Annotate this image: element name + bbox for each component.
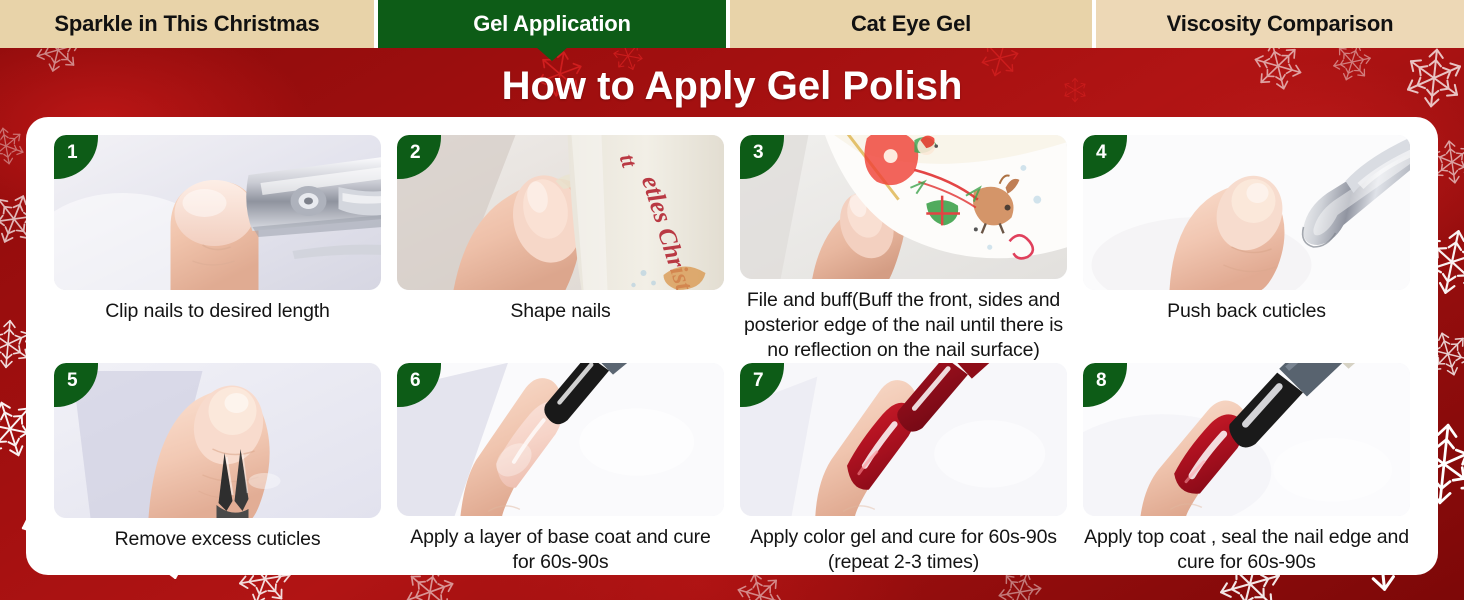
step-7-image: 7 bbox=[740, 363, 1067, 516]
step-number: 3 bbox=[753, 143, 764, 162]
step-caption: Apply a layer of base coat and cure for … bbox=[397, 525, 724, 575]
step-item: 5 Remove excess cuticles bbox=[46, 363, 389, 575]
step-5-image: 5 bbox=[54, 363, 381, 518]
step-caption: Remove excess cuticles bbox=[115, 527, 321, 552]
tab-viscosity-comparison[interactable]: Viscosity Comparison bbox=[1096, 0, 1464, 48]
cuticle-pusher-photo bbox=[1083, 135, 1410, 290]
step-1-image: 1 bbox=[54, 135, 381, 290]
steps-row-bottom: 5 Remove excess cuticles bbox=[46, 363, 1418, 575]
steps-card: 1 Clip nails to desired length bbox=[26, 117, 1438, 575]
step-caption: Clip nails to desired length bbox=[105, 299, 330, 324]
red-color-gel-brush-photo bbox=[740, 363, 1067, 516]
step-item: 3 File and buff(Buff the front, sides an… bbox=[732, 135, 1075, 363]
gel-application-infographic: Sparkle in This Christmas Gel Applicatio… bbox=[0, 0, 1464, 600]
step-number: 5 bbox=[67, 371, 78, 390]
tab-sparkle-in-this-christmas[interactable]: Sparkle in This Christmas bbox=[0, 0, 378, 48]
step-item: 7 Apply color gel and cure for 60s-90s (… bbox=[732, 363, 1075, 575]
tab-label: Viscosity Comparison bbox=[1167, 11, 1394, 37]
cuticle-nipper-photo bbox=[54, 363, 381, 518]
step-4-image: 4 bbox=[1083, 135, 1410, 290]
step-3-image: 3 bbox=[740, 135, 1067, 279]
tab-label: Cat Eye Gel bbox=[851, 11, 971, 37]
step-number: 1 bbox=[67, 143, 78, 162]
base-coat-brush-photo bbox=[397, 363, 724, 516]
tab-gel-application[interactable]: Gel Application bbox=[378, 0, 730, 48]
step-caption: Push back cuticles bbox=[1167, 299, 1326, 324]
step-caption: Shape nails bbox=[510, 299, 610, 324]
tab-label: Gel Application bbox=[473, 11, 631, 37]
page-title: How to Apply Gel Polish bbox=[0, 56, 1464, 116]
step-number: 4 bbox=[1096, 143, 1107, 162]
step-item: 8 Apply top coat , seal the nail edge an… bbox=[1075, 363, 1418, 575]
page-title-text: How to Apply Gel Polish bbox=[502, 64, 963, 109]
step-2-image: etles Christ tt 2 bbox=[397, 135, 724, 290]
step-item: 4 Push back cuticles bbox=[1075, 135, 1418, 363]
christmas-nail-file-buffing-photo bbox=[740, 135, 1067, 279]
step-caption: Apply color gel and cure for 60s-90s (re… bbox=[740, 525, 1067, 575]
nail-file-shaping-photo: etles Christ tt bbox=[397, 135, 724, 290]
step-number: 2 bbox=[410, 143, 421, 162]
steps-row-top: 1 Clip nails to desired length bbox=[46, 135, 1418, 363]
step-item: 1 Clip nails to desired length bbox=[46, 135, 389, 363]
tab-bar: Sparkle in This Christmas Gel Applicatio… bbox=[0, 0, 1464, 48]
step-item: etles Christ tt 2 Shape nails bbox=[389, 135, 732, 363]
tab-label: Sparkle in This Christmas bbox=[54, 11, 319, 37]
step-8-image: 8 bbox=[1083, 363, 1410, 516]
step-caption: Apply top coat , seal the nail edge and … bbox=[1083, 525, 1410, 575]
step-number: 7 bbox=[753, 371, 764, 390]
top-coat-brush-photo bbox=[1083, 363, 1410, 516]
step-number: 8 bbox=[1096, 371, 1107, 390]
step-number: 6 bbox=[410, 371, 421, 390]
step-6-image: 6 bbox=[397, 363, 724, 516]
step-caption: File and buff(Buff the front, sides and … bbox=[740, 288, 1067, 363]
step-item: 6 Apply a layer of base coat and cure fo… bbox=[389, 363, 732, 575]
nail-clipper-photo bbox=[54, 135, 381, 290]
tab-cat-eye-gel[interactable]: Cat Eye Gel bbox=[730, 0, 1096, 48]
